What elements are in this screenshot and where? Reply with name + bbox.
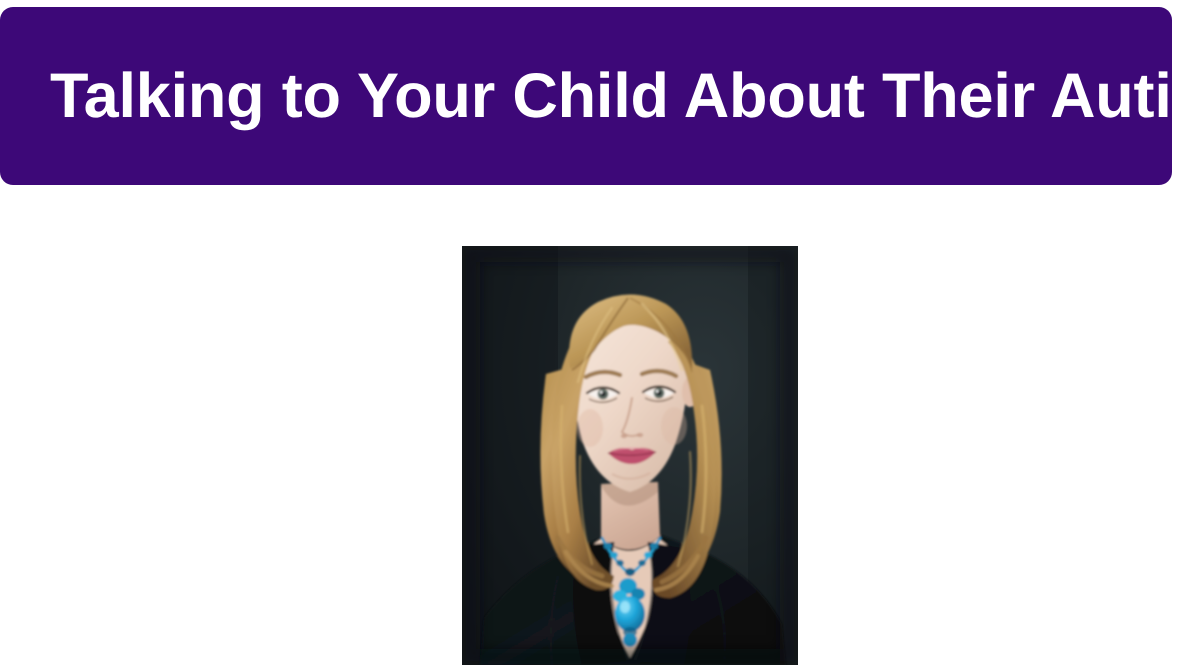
portrait-photo-frame bbox=[462, 246, 798, 665]
page-title: Talking to Your Child About Their Autism bbox=[50, 65, 1180, 128]
title-banner: Talking to Your Child About Their Autism bbox=[0, 7, 1172, 185]
woman-headshot-photo bbox=[462, 246, 798, 665]
